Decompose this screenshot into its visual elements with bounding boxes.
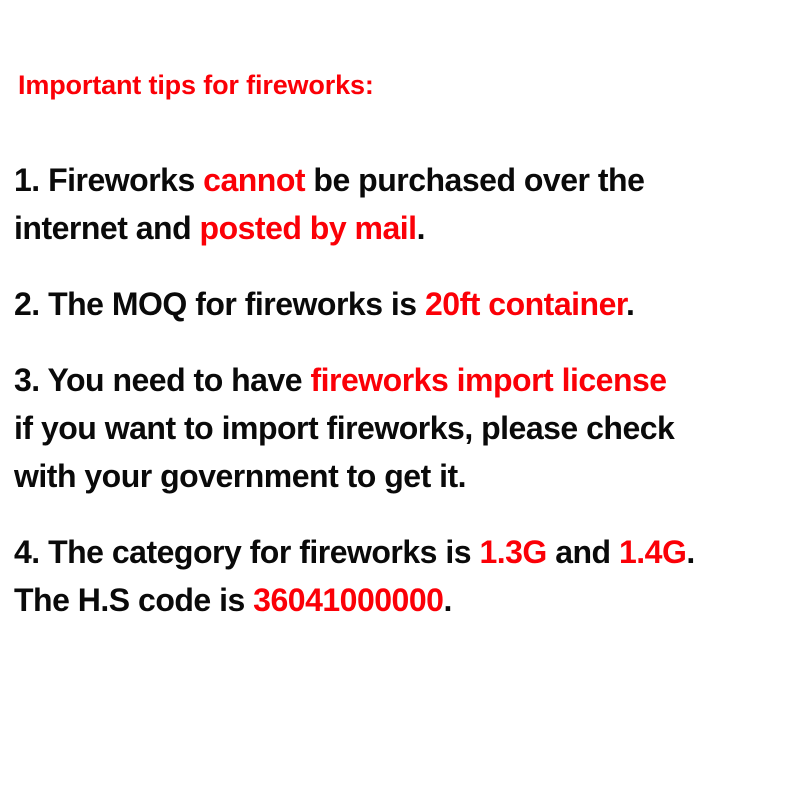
- tip-4-line-2-text-a: The H.S code is: [14, 582, 253, 618]
- tip-4-highlight-category-14g: 1.4G: [619, 534, 686, 570]
- poster-content: Important tips for fireworks: 1. Firewor…: [14, 0, 786, 800]
- tip-item-2: 2. The MOQ for fireworks is 20ft contain…: [14, 280, 786, 328]
- fireworks-tips-poster: Important tips for fireworks: 1. Firewor…: [0, 0, 800, 800]
- tip-4-line-2-text-c: .: [443, 582, 451, 618]
- tip-1-highlight-posted-by-mail: posted by mail: [200, 210, 417, 246]
- tip-2-line-1-text-c: .: [626, 286, 634, 322]
- tips-list: 1. Fireworks cannot be purchased over th…: [14, 156, 786, 624]
- tip-3-line-1-text-a: 3. You need to have: [14, 362, 310, 398]
- tip-item-1: 1. Fireworks cannot be purchased over th…: [14, 156, 786, 252]
- page-title: Important tips for fireworks:: [18, 68, 778, 102]
- tip-3-line-3-text-a: with your government to get it.: [14, 458, 466, 494]
- tip-2-highlight-moq: 20ft container: [425, 286, 626, 322]
- tip-4-line-1: 4. The category for fireworks is 1.3G an…: [14, 528, 786, 576]
- tip-1-line-1-text-c: be purchased over the: [305, 162, 644, 198]
- tip-1-line-2-text-a: internet and: [14, 210, 200, 246]
- tip-4-line-2: The H.S code is 36041000000.: [14, 576, 786, 624]
- tip-3-line-3: with your government to get it.: [14, 452, 786, 500]
- tip-3-line-1: 3. You need to have fireworks import lic…: [14, 356, 786, 404]
- tip-1-line-1: 1. Fireworks cannot be purchased over th…: [14, 156, 786, 204]
- tip-3-highlight-import-license: fireworks import license: [310, 362, 666, 398]
- tip-4-line-1-text-a: 4. The category for fireworks is: [14, 534, 479, 570]
- tip-2-line-1: 2. The MOQ for fireworks is 20ft contain…: [14, 280, 786, 328]
- tip-3-line-2: if you want to import fireworks, please …: [14, 404, 786, 452]
- tip-1-line-2-text-c: .: [417, 210, 425, 246]
- tip-item-3: 3. You need to have fireworks import lic…: [14, 356, 786, 500]
- tip-3-line-2-text-a: if you want to import fireworks, please …: [14, 410, 674, 446]
- tip-1-line-1-text-a: 1. Fireworks: [14, 162, 203, 198]
- tip-1-highlight-cannot: cannot: [203, 162, 305, 198]
- tip-item-4: 4. The category for fireworks is 1.3G an…: [14, 528, 786, 624]
- tip-4-highlight-category-13g: 1.3G: [479, 534, 546, 570]
- tip-4-highlight-hs-code: 36041000000: [253, 582, 443, 618]
- tip-1-line-2: internet and posted by mail.: [14, 204, 786, 252]
- title-block: Important tips for fireworks:: [18, 68, 778, 102]
- tip-2-line-1-text-a: 2. The MOQ for fireworks is: [14, 286, 425, 322]
- tip-4-line-1-text-c: and: [547, 534, 619, 570]
- tip-4-line-1-text-e: .: [686, 534, 694, 570]
